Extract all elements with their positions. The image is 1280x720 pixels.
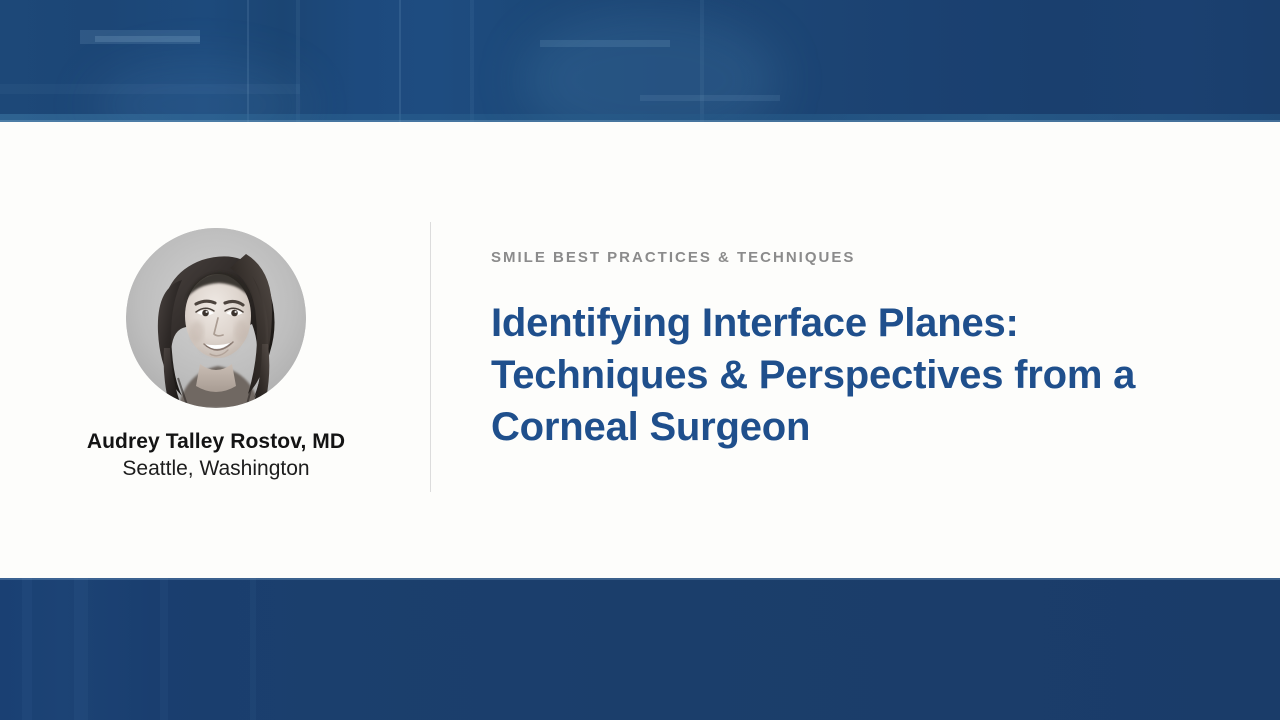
banner-vertical-streak [74,578,88,720]
banner-vertical-streak [296,0,300,122]
banner-vertical-streak [399,0,401,122]
speaker-location: Seattle, Washington [32,457,400,482]
title-block: SMILE BEST PRACTICES & TECHNIQUES Identi… [491,250,1231,453]
eyebrow-label: SMILE BEST PRACTICES & TECHNIQUES [491,250,1231,265]
title-line-3: Corneal Surgeon [491,401,1231,453]
banner-streak [95,36,200,42]
bottom-banner-edge [0,578,1280,580]
banner-vertical-streak [700,0,704,122]
banner-streak [0,84,300,94]
bottom-banner [0,578,1280,720]
content-panel: Audrey Talley Rostov, MD Seattle, Washin… [0,122,1280,578]
speaker-block: Audrey Talley Rostov, MD Seattle, Washin… [32,228,400,482]
banner-glow [520,10,780,122]
speaker-name: Audrey Talley Rostov, MD [32,430,400,455]
banner-vertical-streak [22,578,32,720]
title-line-2: Techniques & Perspectives from a [491,349,1231,401]
top-banner [0,0,1280,122]
avatar [126,228,306,408]
banner-streak [640,95,780,101]
banner-vertical-streak [470,0,474,122]
banner-streak [540,40,670,47]
vertical-divider [430,222,431,492]
portrait-photo [126,228,306,408]
banner-vertical-streak [247,0,249,122]
banner-vertical-streak [160,578,168,720]
page-title: Identifying Interface Planes: Techniques… [491,297,1231,453]
title-slide: Audrey Talley Rostov, MD Seattle, Washin… [0,0,1280,720]
banner-vertical-streak [250,578,256,720]
title-line-1: Identifying Interface Planes: [491,297,1231,349]
